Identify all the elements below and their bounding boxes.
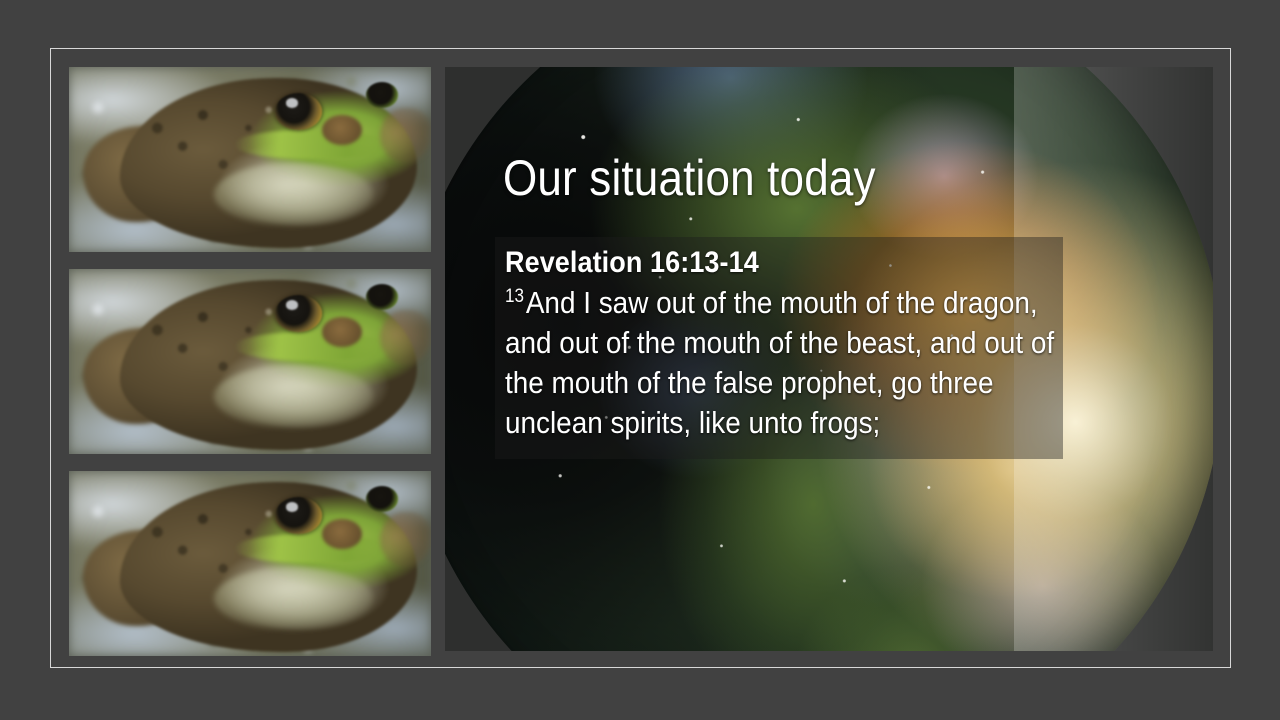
frog-photo-2[interactable]	[69, 269, 431, 454]
frog-lip-stripe	[236, 534, 395, 564]
frog-eye-near	[275, 295, 322, 332]
frog-eye-glint	[286, 98, 298, 107]
frog-image-art	[69, 471, 431, 656]
frog-image-art	[69, 67, 431, 252]
frog-photo-3[interactable]	[69, 471, 431, 656]
slide-frame: Our situation today Revelation 16:13-14 …	[50, 48, 1231, 668]
frog-photo-column	[69, 67, 431, 655]
frog-lip-stripe	[236, 332, 395, 362]
scripture-block: Revelation 16:13-14 13And I saw out of t…	[495, 237, 1063, 459]
frog-lip-stripe	[236, 130, 395, 160]
frog-tympanum	[322, 519, 362, 549]
verse-body-text: And I saw out of the mouth of the dragon…	[505, 285, 1054, 440]
frog-eye-near	[275, 497, 322, 534]
frog-image-art	[69, 269, 431, 454]
scripture-body: 13And I saw out of the mouth of the drag…	[505, 283, 1058, 443]
frog-snout	[380, 512, 431, 568]
frog-snout	[380, 108, 431, 164]
frog-eye-near	[275, 93, 322, 130]
frog-belly	[214, 567, 373, 630]
frog-eye-glint	[286, 300, 298, 309]
verse-number: 13	[505, 286, 524, 307]
frog-tympanum	[322, 317, 362, 347]
slide-title: Our situation today	[503, 147, 1066, 209]
frog-belly	[214, 163, 373, 226]
frog-eye-far	[366, 486, 399, 512]
frog-belly	[214, 365, 373, 428]
frog-tympanum	[322, 115, 362, 145]
slide-canvas: Our situation today Revelation 16:13-14 …	[0, 0, 1280, 720]
frog-eye-far	[366, 82, 399, 108]
frog-eye-glint	[286, 502, 298, 511]
frog-eye-far	[366, 284, 399, 310]
frog-snout	[380, 310, 431, 366]
scripture-reference: Revelation 16:13-14	[505, 245, 995, 281]
frog-photo-1[interactable]	[69, 67, 431, 252]
